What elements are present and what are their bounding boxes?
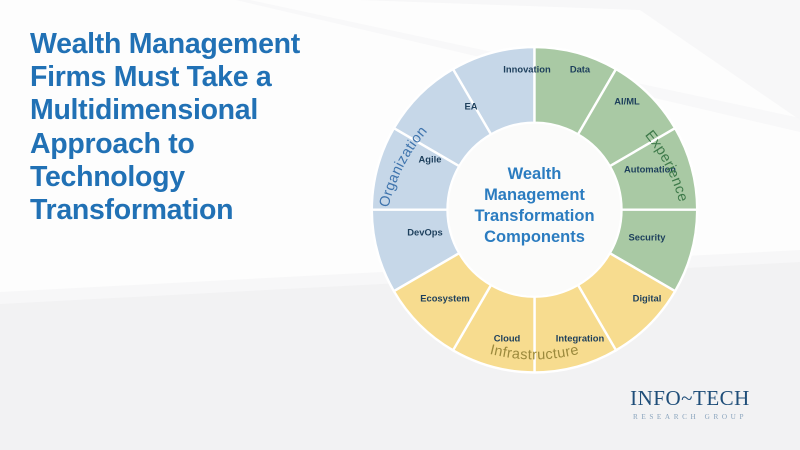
center-line-2: Management (484, 186, 585, 204)
donut-chart: Innovation EA Agile DevOps Data AI/ML Au… (362, 22, 707, 422)
segment-label-devops: DevOps (407, 226, 442, 237)
segment-label-agile: Agile (419, 153, 442, 164)
logo-brand-name: INFO~TECH (604, 388, 776, 409)
center-line-3: Transformation (474, 207, 594, 225)
segment-label-security: Security (629, 231, 667, 242)
segment-label-ea: EA (464, 100, 477, 111)
logo-tagline: RESEARCH GROUP (604, 413, 776, 421)
segment-label-innovation: Innovation (503, 63, 551, 74)
center-line-1: Wealth (508, 165, 562, 183)
segment-label-digital: Digital (633, 292, 662, 303)
segment-label-ai-ml: AI/ML (614, 95, 640, 106)
page-title: Wealth Management Firms Must Take a Mult… (30, 28, 350, 227)
segment-label-data: Data (570, 63, 591, 74)
segment-label-cloud: Cloud (494, 332, 521, 343)
segment-label-integration: Integration (556, 332, 605, 343)
slide-canvas: Wealth Management Firms Must Take a Mult… (0, 0, 800, 450)
center-line-4: Components (484, 228, 585, 246)
segment-label-ecosystem: Ecosystem (420, 292, 470, 303)
title-block: Wealth Management Firms Must Take a Mult… (30, 28, 350, 227)
info-tech-logo: INFO~TECH RESEARCH GROUP (604, 388, 776, 421)
transformation-components-wheel: Innovation EA Agile DevOps Data AI/ML Au… (362, 22, 707, 422)
